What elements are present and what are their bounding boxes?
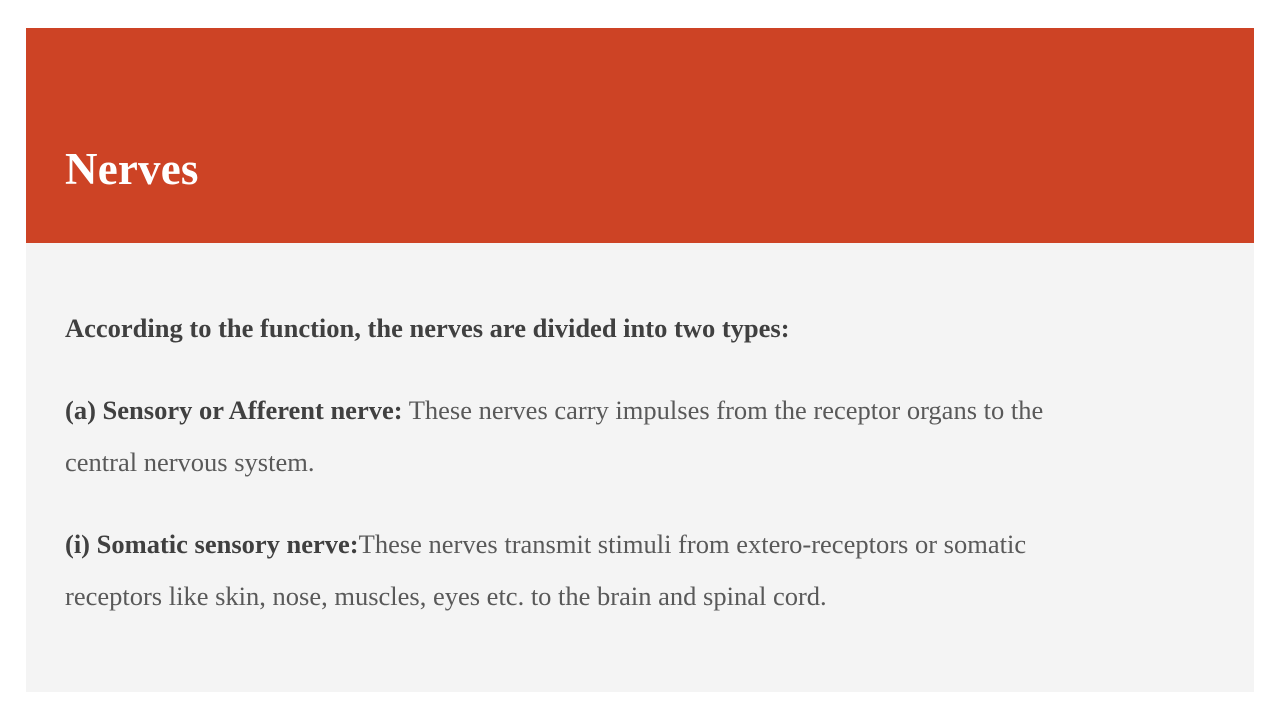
paragraph-intro: According to the function, the nerves ar… bbox=[65, 243, 1065, 354]
slide: Nerves According to the function, the ne… bbox=[26, 28, 1254, 692]
paragraph-sensory-afferent-lead: (a) Sensory or Afferent nerve: bbox=[65, 395, 403, 425]
paragraph-somatic-sensory-lead: (i) Somatic sensory nerve: bbox=[65, 529, 359, 559]
slide-body: According to the function, the nerves ar… bbox=[65, 243, 1065, 622]
page-title: Nerves bbox=[65, 145, 199, 195]
slide-header-banner: Nerves bbox=[26, 28, 1254, 243]
paragraph-sensory-afferent: (a) Sensory or Afferent nerve: These ner… bbox=[65, 354, 1065, 488]
paragraph-somatic-sensory: (i) Somatic sensory nerve:These nerves t… bbox=[65, 488, 1065, 622]
paragraph-intro-lead: According to the function, the nerves ar… bbox=[65, 313, 790, 343]
